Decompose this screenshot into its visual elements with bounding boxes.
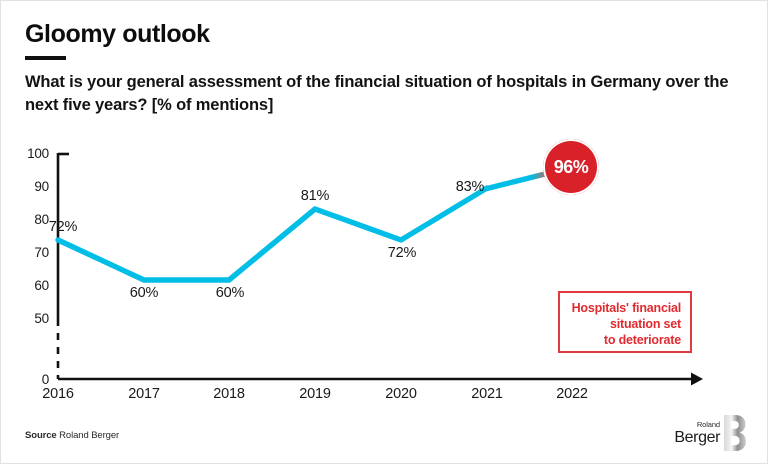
logo-wordmark-roland: Roland <box>668 421 720 429</box>
x-tick-label-2018: 2018 <box>194 386 264 402</box>
highlight-marker-label: 96% <box>554 157 589 178</box>
highlight-marker-2022: 96% <box>543 139 599 195</box>
title-underline-rule <box>25 56 66 60</box>
chart-page: Gloomy outlook What is your general asse… <box>0 0 768 464</box>
data-label-2017: 60% <box>112 285 176 301</box>
y-tick-label-60: 60 <box>17 278 49 293</box>
y-tick-label-0: 0 <box>17 372 49 387</box>
annotation-line-3: to deteriorate <box>604 333 681 347</box>
chart-subtitle: What is your general assessment of the f… <box>25 71 735 117</box>
x-tick-label-2016: 2016 <box>23 386 93 402</box>
x-tick-label-2017: 2017 <box>109 386 179 402</box>
annotation-line-1: Hospitals' financial <box>572 301 681 315</box>
annotation-callout-text: Hospitals' financial situation set to de… <box>566 300 681 348</box>
y-tick-label-100: 100 <box>17 146 49 161</box>
source-note: Source Roland Berger <box>25 430 119 441</box>
x-axis-arrow-head <box>691 373 703 386</box>
x-tick-label-2020: 2020 <box>366 386 436 402</box>
x-tick-label-2022: 2022 <box>537 386 607 402</box>
data-label-2018: 60% <box>198 285 262 301</box>
data-label-2019: 81% <box>283 188 347 204</box>
source-value: Roland Berger <box>59 430 119 441</box>
data-label-2021: 83% <box>438 179 502 195</box>
logo-wordmark: Roland Berger <box>668 421 720 446</box>
x-tick-label-2019: 2019 <box>280 386 350 402</box>
roland-berger-logo: Roland Berger <box>668 413 746 453</box>
annotation-line-2: situation set <box>610 317 681 331</box>
annotation-callout-box: Hospitals' financial situation set to de… <box>558 291 692 353</box>
logo-wordmark-berger: Berger <box>668 430 720 446</box>
data-label-2020: 72% <box>370 245 434 261</box>
data-line-cyan <box>58 188 487 280</box>
y-tick-label-70: 70 <box>17 245 49 260</box>
y-tick-label-90: 90 <box>17 179 49 194</box>
data-label-2016: 72% <box>31 219 95 235</box>
page-title: Gloomy outlook <box>25 20 210 49</box>
y-tick-label-50: 50 <box>17 311 49 326</box>
logo-b-mark-icon <box>724 415 746 451</box>
x-tick-label-2021: 2021 <box>452 386 522 402</box>
source-label: Source <box>25 430 57 441</box>
